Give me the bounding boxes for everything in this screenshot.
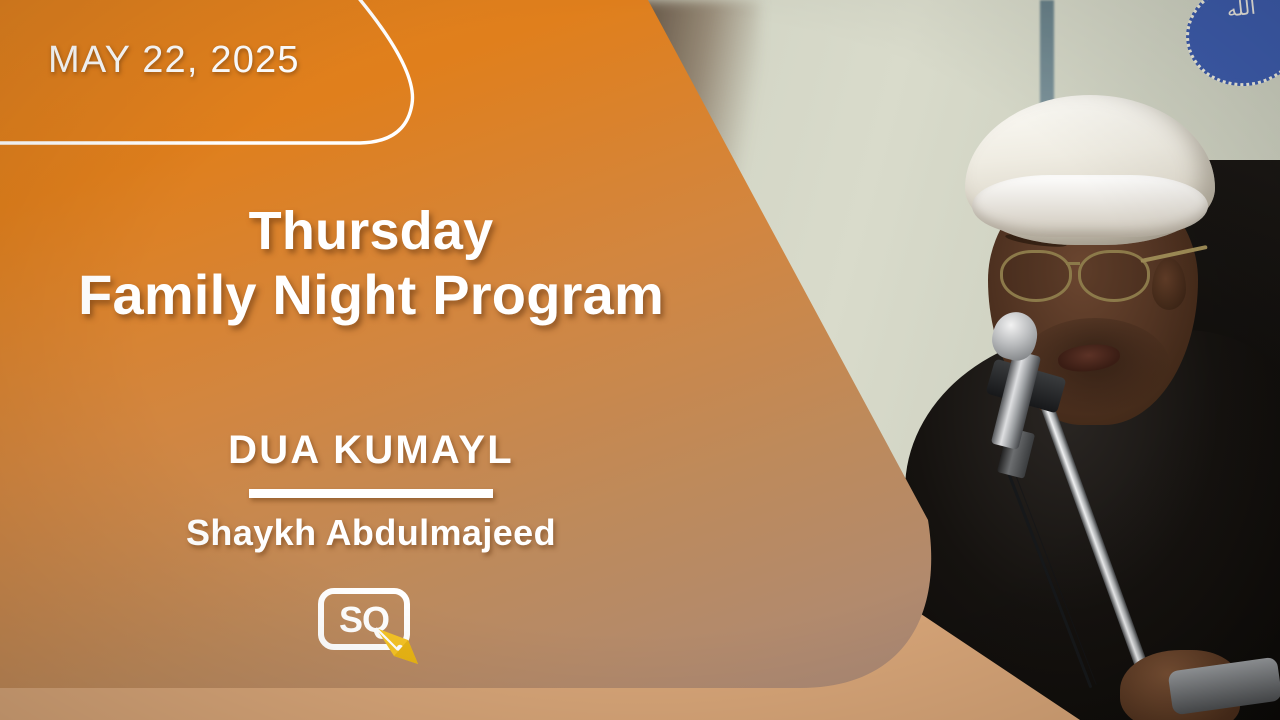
glasses-lens-right	[1078, 250, 1150, 302]
program-title: Thursday Family Night Program	[0, 200, 742, 328]
title-line-1: Thursday	[0, 200, 742, 263]
date-label: MAY 22, 2025	[48, 39, 300, 82]
turban-wrap-band	[972, 175, 1208, 237]
speaker-name: Shaykh Abdulmajeed	[0, 512, 742, 554]
divider-rule	[249, 489, 493, 498]
poster-canvas: الله MAY	[0, 0, 1280, 720]
glasses-lens-left	[1000, 250, 1072, 302]
emblem-calligraphy: الله	[1195, 0, 1280, 77]
sq-logo[interactable]: SQ	[318, 588, 422, 664]
glasses-icon	[1000, 250, 1170, 298]
subtitle-section: DUA KUMAYL Shaykh Abdulmajeed	[0, 428, 742, 554]
program-subject: DUA KUMAYL	[0, 428, 742, 473]
glasses-bridge	[1066, 262, 1080, 265]
pen-nib-icon	[374, 626, 420, 666]
title-line-2: Family Night Program	[0, 263, 742, 328]
